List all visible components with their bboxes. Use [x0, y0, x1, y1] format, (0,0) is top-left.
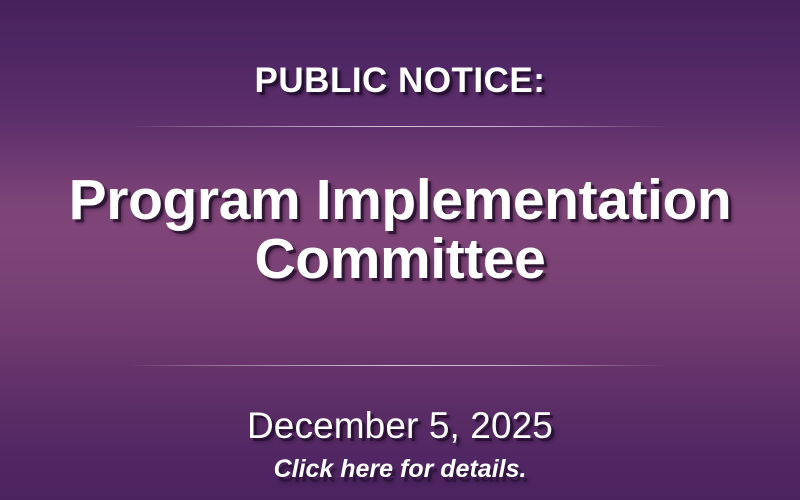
public-notice-banner: PUBLIC NOTICE: Program Implementation Co… [0, 0, 800, 500]
divider-bottom [128, 365, 673, 366]
page-title-line-2: Committee [69, 230, 732, 289]
event-date: December 5, 2025 [247, 407, 553, 444]
details-link[interactable]: Click here for details. [274, 457, 527, 482]
banner-content: PUBLIC NOTICE: Program Implementation Co… [0, 0, 800, 500]
notice-eyebrow-label: PUBLIC NOTICE: [255, 63, 546, 98]
page-title: Program Implementation Committee [69, 171, 732, 288]
divider-top [128, 126, 673, 127]
page-title-line-1: Program Implementation [69, 171, 732, 230]
